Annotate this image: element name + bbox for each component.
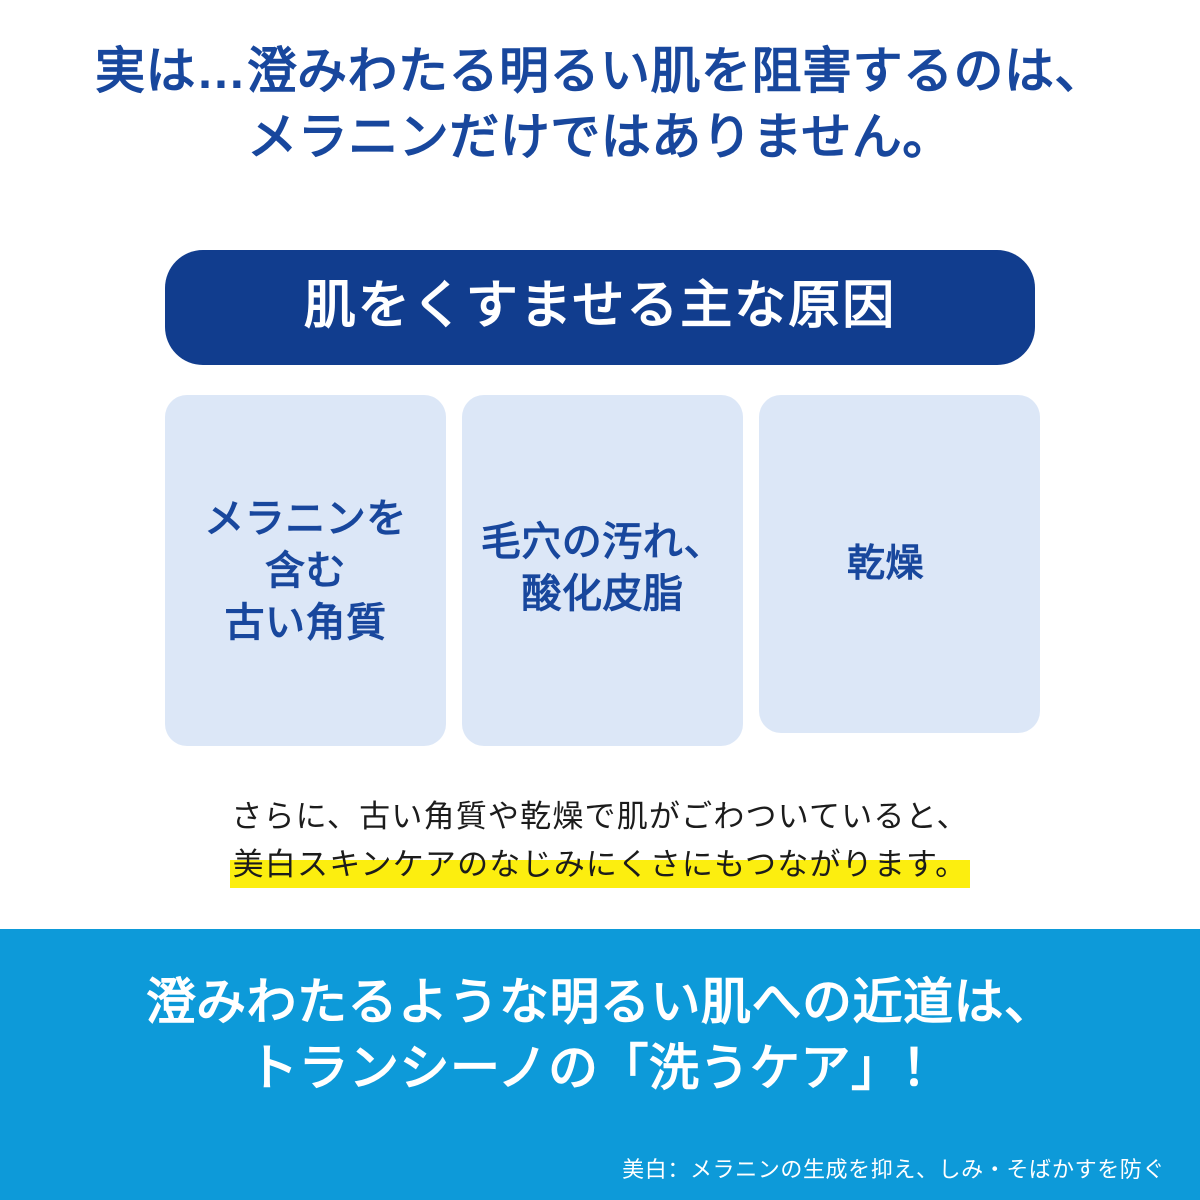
conclusion-line-2: トランシーノの「洗うケア」！ (0, 1035, 1200, 1101)
cause-card-dryness-text: 乾燥 (847, 538, 924, 590)
cause-card-old-keratin: メラニンを 含む 古い角質 (165, 395, 446, 746)
cause-card-pore-dirt-text: 毛穴の汚れ、 酸化皮脂 (481, 516, 724, 626)
main-causes-banner-label: 肌をくすませる主な原因 (304, 280, 896, 335)
supporting-note-line-2-wrap: 美白スキンケアのなじみにくさにもつながります。 (0, 841, 1200, 889)
supporting-note-line-2: 美白スキンケアのなじみにくさにもつながります。 (233, 841, 968, 889)
conclusion-line-1: 澄みわたるような明るい肌への近道は、 (0, 969, 1200, 1035)
cause-card-pore-dirt-line-2: 酸化皮脂 (481, 568, 724, 620)
supporting-note: さらに、古い角質や乾燥で肌がごわついていると、 美白スキンケアのなじみにくさにも… (0, 793, 1200, 889)
cause-card-old-keratin-line-2: 含む (204, 545, 407, 597)
cause-card-dryness: 乾燥 (759, 395, 1040, 733)
infographic-page: 実は…澄みわたる明るい肌を阻害するのは、 メラニンだけではありません。 肌をくす… (0, 0, 1200, 1200)
cause-card-pore-dirt-line-1: 毛穴の汚れ、 (481, 516, 724, 568)
cause-card-dryness-line-1: 乾燥 (847, 538, 924, 590)
headline-line-2: メラニンだけではありません。 (0, 104, 1200, 170)
page-headline: 実は…澄みわたる明るい肌を阻害するのは、 メラニンだけではありません。 (0, 38, 1200, 170)
cause-card-pore-dirt: 毛穴の汚れ、 酸化皮脂 (462, 395, 743, 746)
footnote-disclaimer: 美白：メラニンの生成を抑え、しみ・そばかすを防ぐ (622, 1157, 1165, 1183)
cause-card-old-keratin-line-1: メラニンを (204, 493, 407, 545)
headline-line-1: 実は…澄みわたる明るい肌を阻害するのは、 (0, 38, 1200, 104)
conclusion-band-text: 澄みわたるような明るい肌への近道は、 トランシーノの「洗うケア」！ (0, 969, 1200, 1101)
cause-card-old-keratin-text: メラニンを 含む 古い角質 (204, 493, 407, 649)
supporting-note-line-1: さらに、古い角質や乾燥で肌がごわついていると、 (0, 793, 1200, 841)
cause-card-old-keratin-line-3: 古い角質 (204, 597, 407, 649)
main-causes-banner: 肌をくすませる主な原因 (165, 250, 1035, 365)
cause-cards-group: メラニンを 含む 古い角質 毛穴の汚れ、 酸化皮脂 乾燥 (165, 395, 1040, 750)
conclusion-band: 澄みわたるような明るい肌への近道は、 トランシーノの「洗うケア」！ 美白：メラニ… (0, 929, 1200, 1200)
